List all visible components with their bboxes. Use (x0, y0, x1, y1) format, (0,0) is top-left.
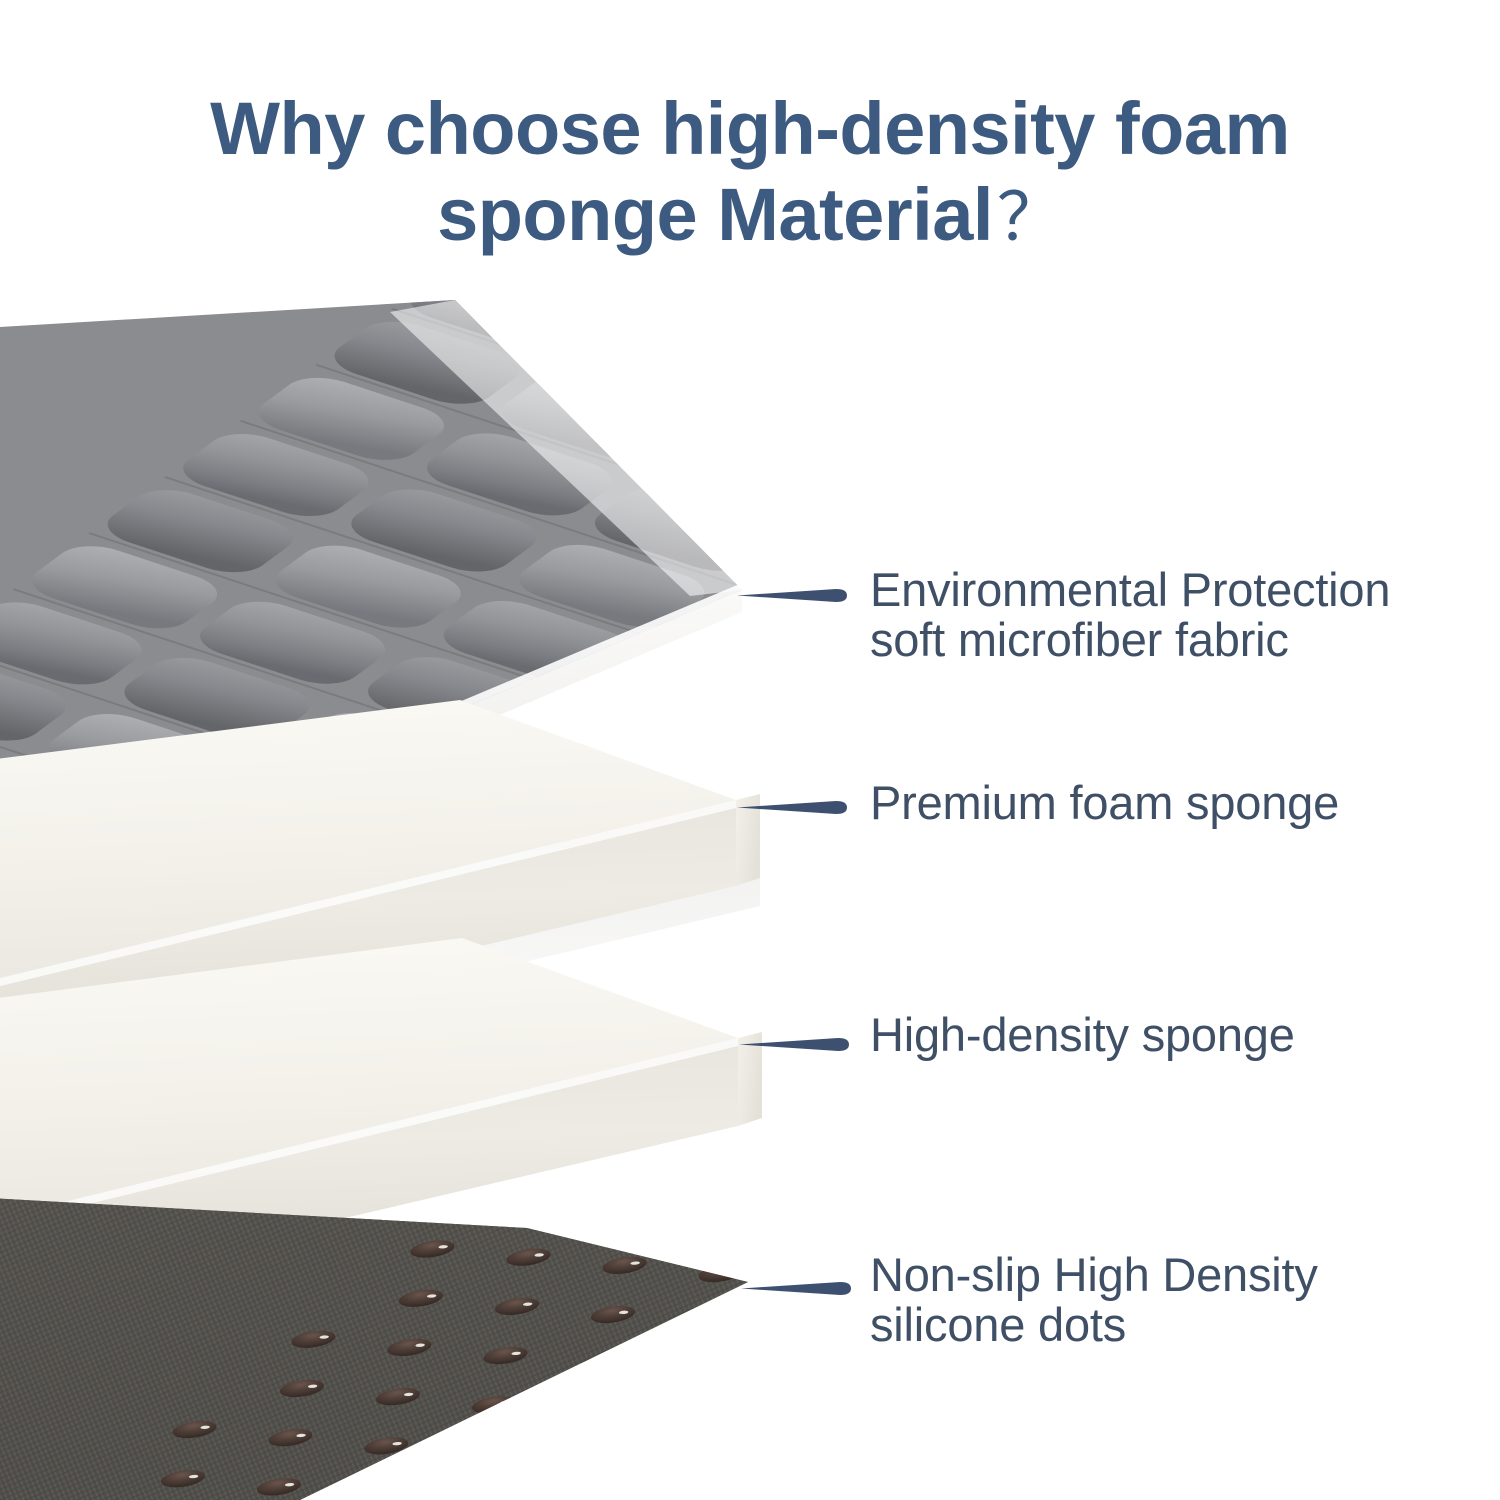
leader-line-fabric (737, 589, 847, 602)
callout-label-microfiber-fabric: Environmental Protection soft microfiber… (870, 565, 1390, 666)
leader-line-silicone (741, 1282, 851, 1295)
infographic-canvas: Why choose high-density foam sponge Mate… (0, 0, 1500, 1500)
high-density-right-face (738, 1032, 762, 1126)
leader-lines (737, 589, 851, 1295)
callout-label-premium-foam: Premium foam sponge (870, 778, 1339, 828)
callout-label-high-density-sponge: High-density sponge (870, 1010, 1295, 1060)
callout-label-silicone-dots: Non-slip High Density silicone dots (870, 1250, 1318, 1351)
